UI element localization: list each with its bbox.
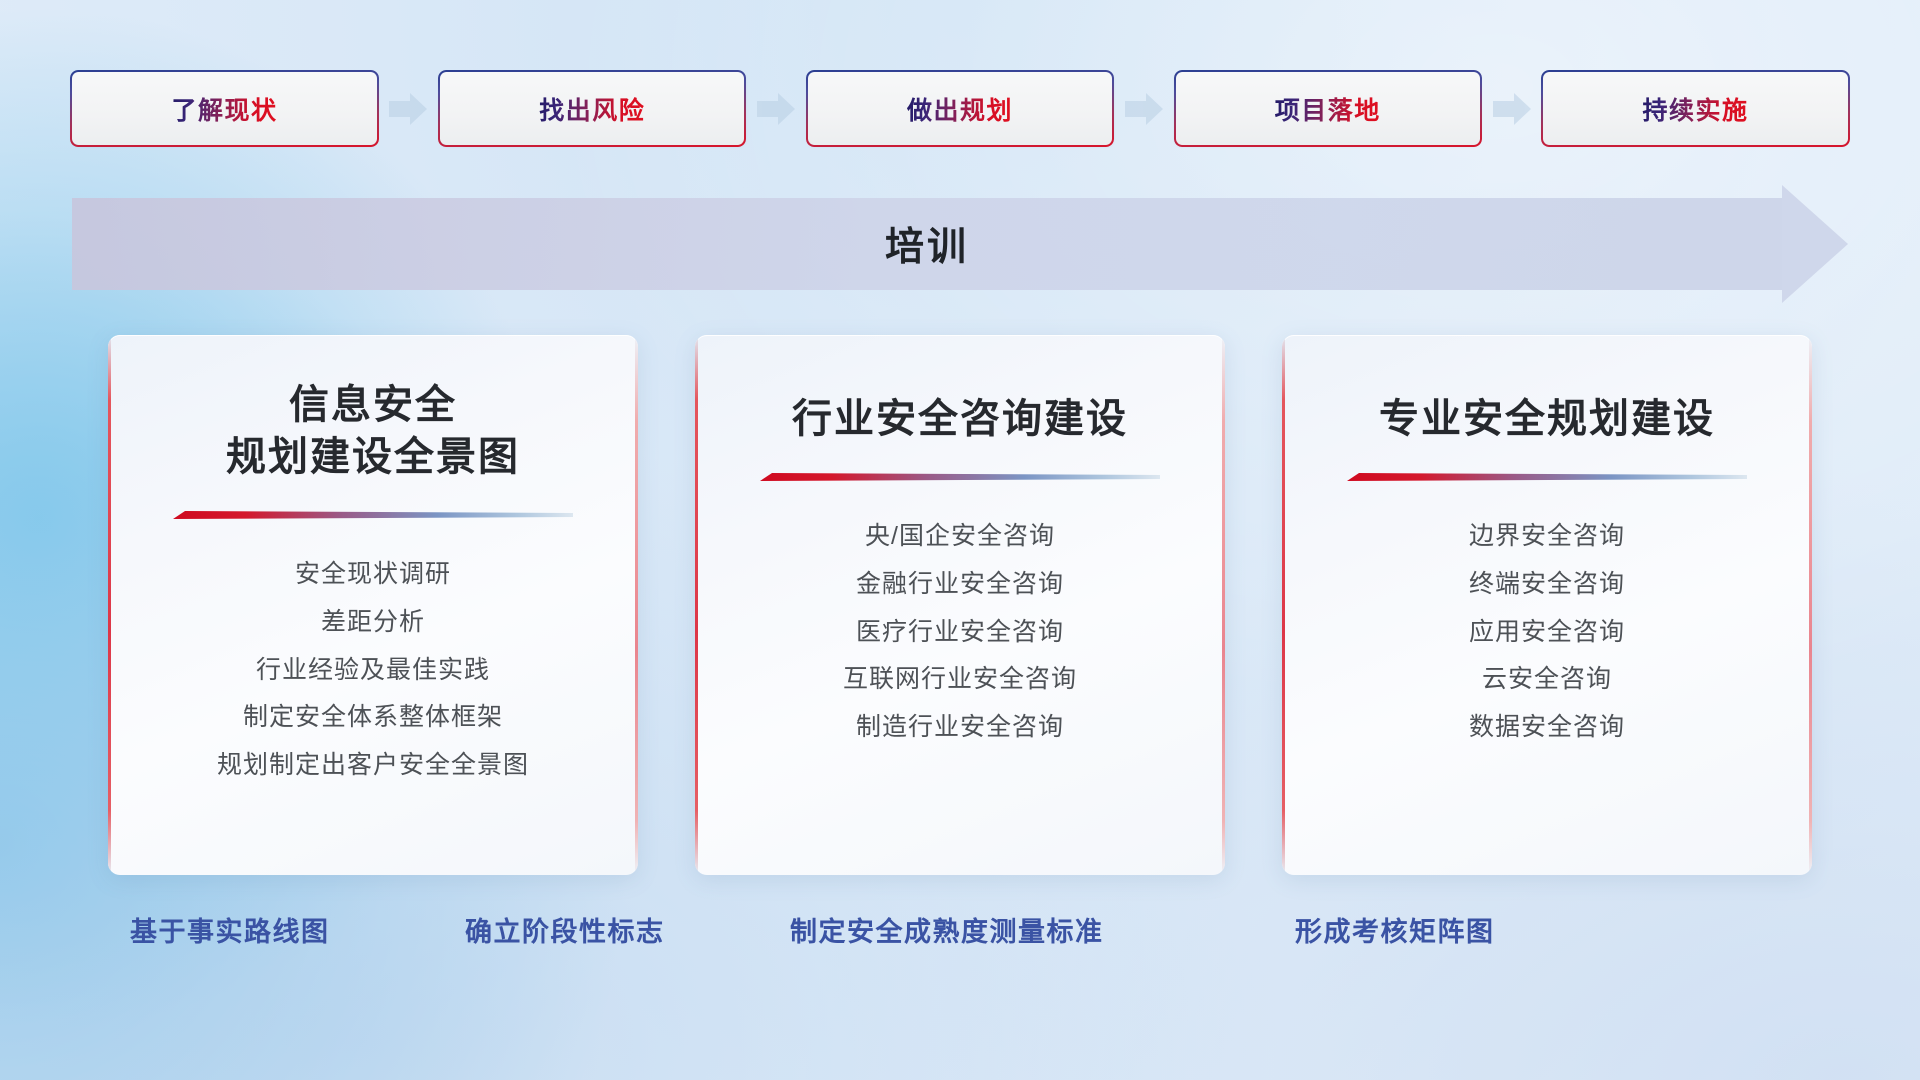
- step-label: 做出规划: [907, 91, 1013, 127]
- step-box-4[interactable]: 项目落地: [1175, 72, 1480, 145]
- caption-milestones: 确立阶段性标志: [465, 910, 665, 949]
- step-box-1[interactable]: 了解现状: [72, 72, 377, 145]
- band-label: 培训: [72, 198, 1848, 290]
- list-item: 制造行业安全咨询: [856, 711, 1064, 745]
- list-item: 云安全咨询: [1482, 663, 1612, 697]
- card-title: 行业安全咨询建设: [792, 379, 1128, 445]
- accent-wedge-icon: [1347, 471, 1747, 486]
- card-item-list: 央/国企安全咨询 金融行业安全咨询 医疗行业安全咨询 互联网行业安全咨询 制造行…: [843, 520, 1077, 745]
- card-row: 信息安全 规划建设全景图: [108, 335, 1812, 875]
- training-band: 培训: [72, 198, 1848, 290]
- accent-wedge-icon: [173, 509, 573, 524]
- list-item: 终端安全咨询: [1469, 568, 1625, 602]
- step-box-5[interactable]: 持续实施: [1543, 72, 1848, 145]
- right-arrow-icon: [1493, 93, 1531, 125]
- list-item: 央/国企安全咨询: [865, 520, 1055, 554]
- card-professional-security-planning[interactable]: 专业安全规划建设: [1282, 335, 1812, 875]
- list-item: 规划制定出客户安全全景图: [217, 749, 529, 783]
- accent-wedge-icon: [760, 471, 1160, 486]
- list-item: 差距分析: [321, 606, 425, 640]
- step-label: 持续实施: [1642, 91, 1748, 127]
- card-item-list: 边界安全咨询 终端安全咨询 应用安全咨询 云安全咨询 数据安全咨询: [1469, 520, 1625, 745]
- list-item: 行业经验及最佳实践: [256, 654, 490, 688]
- right-arrow-icon: [389, 93, 427, 125]
- step-box-3[interactable]: 做出规划: [808, 72, 1113, 145]
- slide-canvas: 了解现状 找出风险 做出规划 项目落地 持续实施 培训 信息安全 规划建设全景图: [0, 0, 1920, 1080]
- step-label: 项目落地: [1275, 91, 1381, 127]
- card-title: 专业安全规划建设: [1379, 379, 1715, 445]
- caption-row: 基于事实路线图 确立阶段性标志 制定安全成熟度测量标准 形成考核矩阵图: [0, 910, 1920, 966]
- list-item: 医疗行业安全咨询: [856, 616, 1064, 650]
- step-label: 找出风险: [539, 91, 645, 127]
- caption-roadmap: 基于事实路线图: [130, 910, 330, 949]
- card-information-security-blueprint[interactable]: 信息安全 规划建设全景图: [108, 335, 638, 875]
- list-item: 制定安全体系整体框架: [243, 701, 503, 735]
- list-item: 互联网行业安全咨询: [843, 663, 1077, 697]
- right-arrow-icon: [1125, 93, 1163, 125]
- process-step-bar: 了解现状 找出风险 做出规划 项目落地 持续实施: [72, 72, 1848, 145]
- list-item: 数据安全咨询: [1469, 711, 1625, 745]
- list-item: 边界安全咨询: [1469, 520, 1625, 554]
- card-title: 信息安全 规划建设全景图: [226, 379, 520, 483]
- list-item: 安全现状调研: [295, 558, 451, 592]
- card-industry-security-consulting[interactable]: 行业安全咨询建设: [695, 335, 1225, 875]
- caption-maturity-model: 制定安全成熟度测量标准: [790, 910, 1104, 949]
- right-arrow-icon: [757, 93, 795, 125]
- step-box-2[interactable]: 找出风险: [440, 72, 745, 145]
- list-item: 金融行业安全咨询: [856, 568, 1064, 602]
- card-item-list: 安全现状调研 差距分析 行业经验及最佳实践 制定安全体系整体框架 规划制定出客户…: [217, 558, 529, 783]
- caption-kpi-matrix: 形成考核矩阵图: [1295, 910, 1495, 949]
- list-item: 应用安全咨询: [1469, 616, 1625, 650]
- step-label: 了解现状: [171, 91, 277, 127]
